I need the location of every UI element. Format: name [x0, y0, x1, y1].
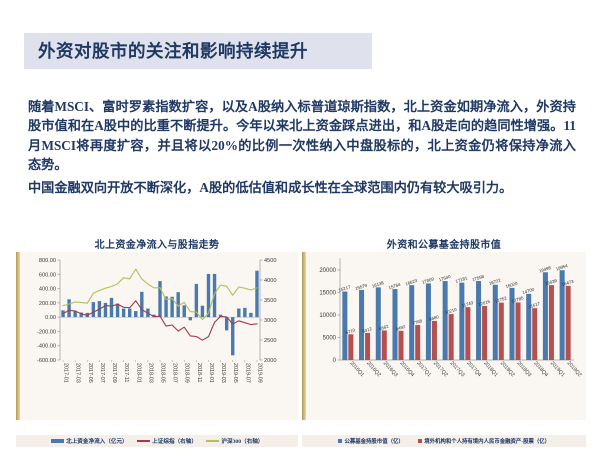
svg-text:2018-01: 2018-01	[135, 363, 141, 383]
svg-text:-200.00: -200.00	[37, 329, 56, 335]
body-paragraph-2: 中国金融双向开放不断深化，A股的低估值和成长性在全球范围内仍有较大吸引力。	[28, 178, 576, 197]
svg-text:20000: 20000	[319, 268, 336, 274]
svg-text:2019Q1: 2019Q1	[549, 360, 566, 378]
svg-text:4000: 4000	[264, 278, 276, 284]
legend-item-northbound: 北上资金净流入（亿元）	[51, 437, 128, 445]
body-paragraph-1: 随着MSCI、富时罗素指数扩容，以及A股纳入标普道琼斯指数，北上资金如期净流入，…	[28, 97, 576, 175]
foreign-fund-holdings-chart: 外资和公募基金持股市值 2000015000100005000015217571…	[302, 232, 586, 450]
svg-text:2017-09: 2017-09	[111, 363, 117, 383]
svg-text:2018-05: 2018-05	[160, 363, 166, 383]
svg-text:2018Q4: 2018Q4	[532, 360, 549, 378]
legend-swatch-bar-icon	[51, 439, 64, 443]
svg-text:2018Q3: 2018Q3	[516, 360, 533, 378]
legend-label-northbound: 北上资金净流入（亿元）	[66, 437, 128, 445]
svg-text:200.00: 200.00	[39, 301, 56, 307]
svg-text:-400.00: -400.00	[37, 344, 56, 350]
svg-text:2018Q2: 2018Q2	[499, 360, 516, 378]
legend-item-public-fund: 公募基金持股市值（亿）	[338, 437, 404, 445]
svg-text:2018-07: 2018-07	[172, 363, 178, 383]
svg-text:15000: 15000	[319, 291, 336, 297]
chart-left-title: 北上资金净流入与股指走势	[16, 236, 298, 251]
svg-text:2016Q2: 2016Q2	[365, 360, 382, 378]
svg-text:2019-07: 2019-07	[244, 363, 250, 383]
svg-text:-600.00: -600.00	[37, 358, 56, 364]
svg-text:0.00: 0.00	[45, 315, 56, 321]
legend-label-sse: 上证综指（右轴）	[152, 437, 197, 445]
svg-text:2018-09: 2018-09	[184, 363, 190, 383]
svg-text:10000: 10000	[319, 313, 336, 319]
svg-text:2017-01: 2017-01	[63, 363, 69, 383]
chart-right-plot: 200001500010000500001521757102016Q115579…	[302, 252, 586, 420]
legend-swatch-public-fund-icon	[338, 439, 342, 443]
svg-text:2019-09: 2019-09	[256, 363, 262, 383]
svg-text:2018Q1: 2018Q1	[482, 360, 499, 378]
chart-left-plot: 800.00600.00400.00200.000.00-200.00-400.…	[16, 252, 298, 420]
svg-text:2500: 2500	[264, 338, 276, 344]
svg-text:2017Q3: 2017Q3	[449, 360, 466, 378]
svg-text:2017Q1: 2017Q1	[415, 360, 432, 378]
svg-text:2016Q1: 2016Q1	[348, 360, 365, 378]
svg-text:2017-11: 2017-11	[123, 363, 129, 382]
svg-text:2017Q2: 2017Q2	[432, 360, 449, 378]
legend-item-csi300: 沪深300（右轴）	[206, 437, 263, 445]
legend-label-foreign-holder: 境外机构和个人持有境内人民币金融资产-股票（亿）	[424, 437, 550, 445]
chart-right-title: 外资和公募基金持股市值	[302, 236, 586, 251]
svg-text:600.00: 600.00	[39, 272, 56, 278]
svg-text:2017-05: 2017-05	[87, 363, 93, 383]
svg-text:2017-03: 2017-03	[75, 363, 81, 383]
svg-text:5000: 5000	[323, 336, 337, 342]
svg-text:400.00: 400.00	[39, 287, 56, 293]
svg-text:2019Q2: 2019Q2	[566, 360, 583, 378]
svg-text:4500: 4500	[264, 258, 276, 264]
svg-text:2017-07: 2017-07	[99, 363, 105, 383]
legend-item-foreign-holder: 境外机构和个人持有境内人民币金融资产-股票（亿）	[418, 437, 550, 445]
page-title: 外资对股市的关注和影响持续提升	[38, 38, 378, 64]
legend-swatch-line-sse-icon	[137, 440, 150, 442]
svg-text:2017Q4: 2017Q4	[465, 360, 482, 378]
northbound-flow-chart: 北上资金净流入与股指走势 800.00600.00400.00200.000.0…	[16, 232, 298, 450]
svg-text:800.00: 800.00	[39, 258, 56, 264]
chart-left-legend: 北上资金净流入（亿元） 上证综指（右轴） 沪深300（右轴）	[16, 435, 298, 447]
svg-text:2019-05: 2019-05	[232, 363, 238, 383]
legend-item-sse: 上证综指（右轴）	[137, 437, 197, 445]
legend-swatch-line-csi300-icon	[206, 440, 219, 442]
legend-label-csi300: 沪深300（右轴）	[221, 437, 263, 445]
chart-right-legend: 公募基金持股市值（亿） 境外机构和个人持有境内人民币金融资产-股票（亿）	[302, 435, 586, 447]
legend-swatch-foreign-holder-icon	[418, 439, 422, 443]
svg-text:2016Q3: 2016Q3	[382, 360, 399, 378]
svg-text:0: 0	[333, 358, 337, 364]
svg-text:2019-01: 2019-01	[208, 363, 214, 383]
svg-text:2018-11: 2018-11	[196, 363, 202, 382]
svg-text:2018-03: 2018-03	[147, 363, 153, 383]
svg-text:3000: 3000	[264, 318, 276, 324]
legend-label-public-fund: 公募基金持股市值（亿）	[344, 437, 403, 445]
svg-text:2019-03: 2019-03	[220, 363, 226, 383]
svg-text:2016Q4: 2016Q4	[399, 360, 416, 378]
svg-text:3500: 3500	[264, 298, 276, 304]
svg-text:2000: 2000	[264, 358, 276, 364]
